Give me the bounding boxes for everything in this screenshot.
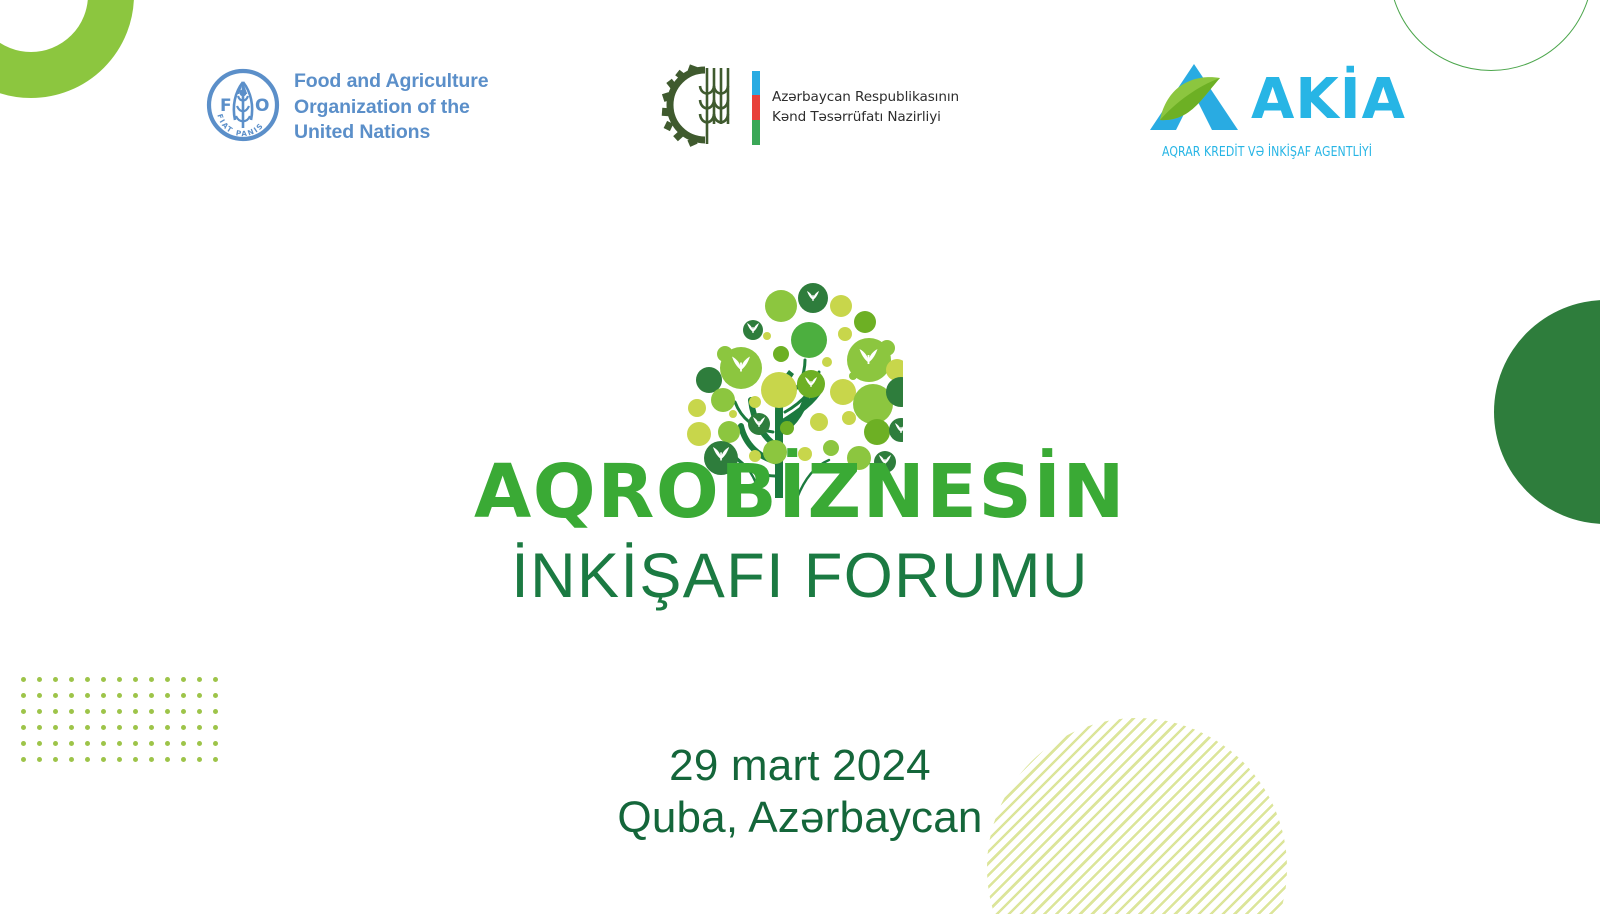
- fao-wheat-emblem-icon: F A O FIAT PANIS: [205, 66, 281, 149]
- svg-text:F: F: [220, 96, 232, 116]
- ministry-of-agriculture-logo: Azərbaycan Respublikasının Kənd Təsərrüf…: [661, 62, 959, 153]
- event-place: Quba, Azərbaycan: [0, 792, 1600, 844]
- fao-logo: F A O FIAT PANIS Food and Agriculture Or…: [205, 66, 488, 149]
- gear-wheat-emblem-icon: [661, 62, 745, 153]
- forum-announcement-slide: F A O FIAT PANIS Food and Agriculture Or…: [0, 0, 1600, 914]
- page-title: AQROBİZNESİN: [0, 455, 1600, 529]
- svg-text:A: A: [237, 82, 248, 98]
- akia-tagline: AQRAR KREDİT VƏ İNKİŞAF AGENTLİYİ: [1162, 145, 1372, 160]
- akia-wordmark: AKİA: [1251, 72, 1406, 128]
- page-subtitle: İNKİŞAFI FORUMU: [0, 545, 1600, 608]
- akia-logo: AKİA AQRAR KREDİT VƏ İNKİŞAF AGENTLİYİ: [1146, 58, 1406, 160]
- azerbaijan-flag-stripe-icon: [752, 71, 760, 145]
- event-date: 29 mart 2024: [0, 740, 1600, 792]
- akia-leaf-a-icon: [1146, 58, 1242, 141]
- partner-logo-row: F A O FIAT PANIS Food and Agriculture Or…: [0, 58, 1600, 162]
- svg-text:O: O: [255, 96, 269, 116]
- event-info: 29 mart 2024 Quba, Azərbaycan: [0, 740, 1600, 844]
- ministry-logo-text: Azərbaycan Respublikasının Kənd Təsərrüf…: [772, 88, 959, 127]
- fao-logo-text: Food and Agriculture Organization of the…: [294, 69, 488, 147]
- forum-title-block: AQROBİZNESİN İNKİŞAFI FORUMU: [0, 455, 1600, 608]
